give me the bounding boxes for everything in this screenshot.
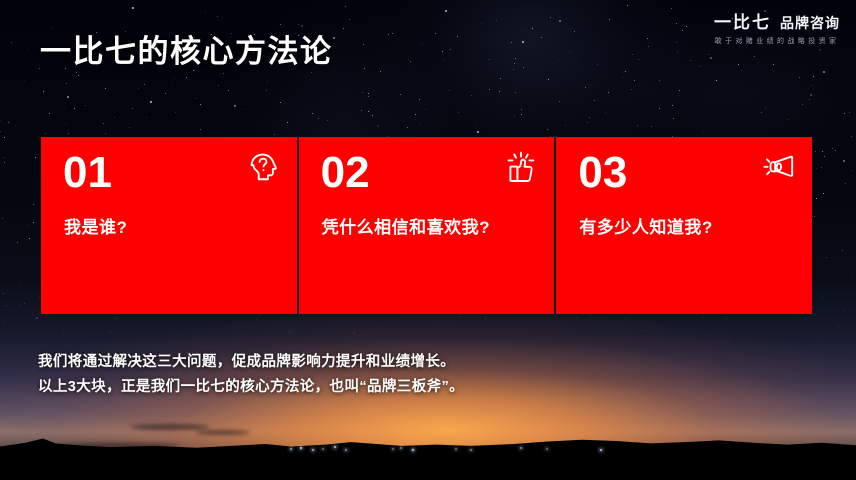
brand-name: 品牌咨询 — [780, 13, 840, 33]
page-title: 一比七的核心方法论 — [40, 26, 333, 71]
card-number: 01 — [63, 151, 112, 195]
distant-city-lights — [0, 418, 856, 480]
methodology-card-01[interactable]: 01 我是谁? — [41, 137, 297, 314]
methodology-card-02[interactable]: 02 凭什么相信和喜欢我? — [299, 137, 555, 314]
brand-tagline: 敢于对赌业绩的战略投资家 — [714, 36, 840, 46]
brand-mark: 一比七 — [714, 8, 771, 33]
brand-logo-row: 一比七 品牌咨询 — [714, 8, 840, 33]
footer-line-1: 我们将通过解决这三大问题，促成品牌影响力提升和业绩增长。 — [38, 350, 464, 375]
card-number: 03 — [578, 151, 627, 195]
thumbs-up-icon — [504, 150, 538, 184]
head-question-icon — [247, 150, 281, 184]
methodology-card-group: 01 我是谁? 02 凭什么相信和喜欢我? — [41, 137, 812, 314]
card-label: 有多少人知道我? — [579, 213, 712, 238]
brand-logo: 一比七 品牌咨询 敢于对赌业绩的战略投资家 — [714, 8, 840, 46]
slide-canvas: 一比七的核心方法论 一比七 品牌咨询 敢于对赌业绩的战略投资家 01 我是谁? … — [0, 0, 856, 480]
footer-line-2: 以上3大块，正是我们一比七的核心方法论，也叫“品牌三板斧”。 — [38, 375, 464, 400]
megaphone-icon — [762, 150, 796, 184]
methodology-card-03[interactable]: 03 有多少人知道我? — [556, 137, 812, 314]
card-label: 我是谁? — [64, 213, 127, 238]
card-label: 凭什么相信和喜欢我? — [322, 213, 490, 238]
footer-note: 我们将通过解决这三大问题，促成品牌影响力提升和业绩增长。 以上3大块，正是我们一… — [38, 350, 464, 400]
card-number: 02 — [321, 151, 370, 195]
